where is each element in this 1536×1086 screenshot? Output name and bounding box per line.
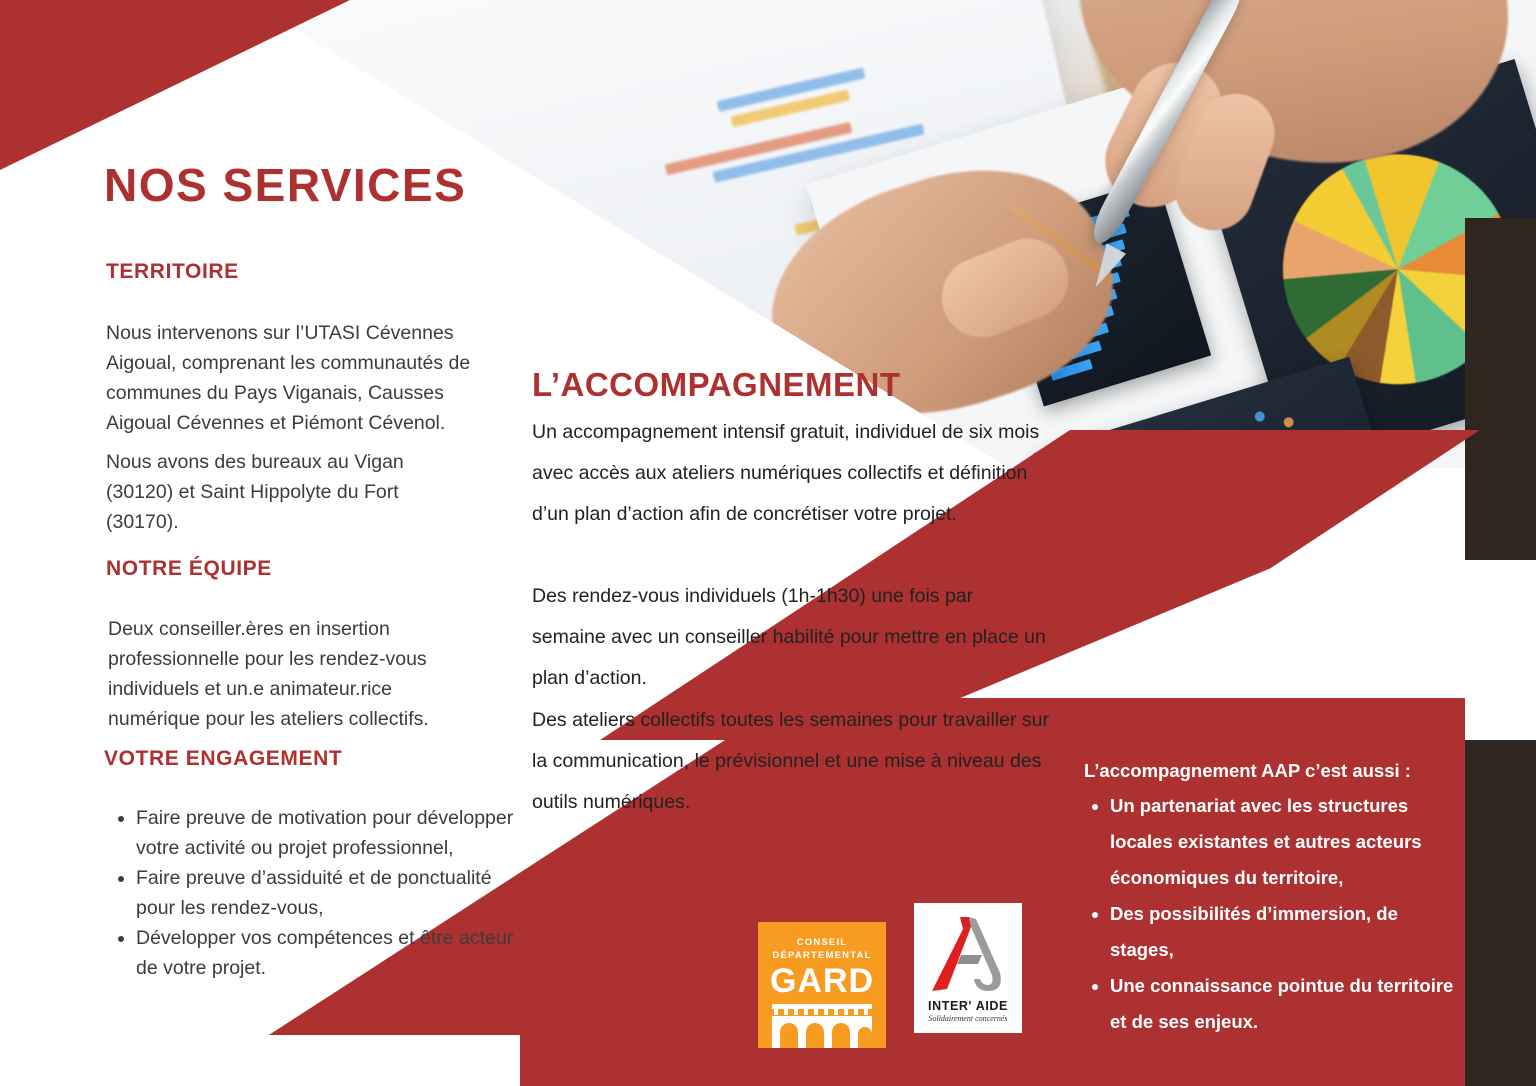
brochure-page: NOS SERVICES TERRITOIRE Nous intervenons… [0,0,1536,1086]
gard-line-1: CONSEIL [797,937,848,948]
accompagnement-paragraph-3: Des ateliers collectifs toutes les semai… [532,700,1052,823]
right-panel-text: L’accompagnement AAP c’est aussi : Un pa… [1084,756,1456,1040]
accompagnement-paragraph-2: Des rendez-vous individuels (1h-1h30) un… [532,576,1052,699]
list-item: Développer vos compétences et être acteu… [136,923,522,983]
territoire-paragraph-1: Nous intervenons sur l’UTASI Cévennes Ai… [106,318,496,438]
red-triangle-top-left [0,0,350,170]
page-title: NOS SERVICES [104,158,466,212]
logo-conseil-departemental-gard: CONSEIL DÉPARTEMENTAL GARD [758,922,886,1048]
right-panel-lead: L’accompagnement AAP c’est aussi : [1084,756,1456,786]
pont-du-gard-icon [772,1004,872,1048]
inter-aide-a-icon [914,911,1022,999]
list-item: Une connaissance pointue du territoire e… [1110,968,1456,1040]
territoire-paragraph-2: Nous avons des bureaux au Vigan (30120) … [106,447,456,537]
gard-line-2: DÉPARTEMENTAL [772,950,871,961]
section-heading-engagement: VOTRE ENGAGEMENT [104,747,342,771]
gard-logo-subtitle: CONSEIL DÉPARTEMENTAL [758,936,886,962]
section-heading-territoire: TERRITOIRE [106,260,239,284]
white-bottom-left-cut [0,1035,520,1086]
inter-aide-name: INTER' AIDE [914,999,1022,1013]
equipe-paragraph: Deux conseiller.ères en insertion profes… [108,614,486,734]
accompagnement-paragraph-1: Un accompagnement intensif gratuit, indi… [532,412,1052,535]
right-panel-bullet-list: Un partenariat avec les structures local… [1084,788,1456,1040]
list-item: Faire preuve de motivation pour développ… [136,803,522,863]
section-heading-equipe: NOTRE ÉQUIPE [106,557,272,581]
section-heading-accompagnement: L’ACCOMPAGNEMENT [532,366,901,404]
inter-aide-tagline: Solidairement concernés [914,1014,1022,1023]
list-item: Des possibilités d’immersion, de stages, [1110,896,1456,968]
logo-inter-aide: INTER' AIDE Solidairement concernés [914,903,1022,1033]
gard-wordmark: GARD [758,962,886,1001]
list-item: Un partenariat avec les structures local… [1110,788,1456,896]
list-item: Faire preuve d’assiduité et de ponctuali… [136,863,522,923]
engagement-bullet-list: Faire preuve de motivation pour développ… [110,803,522,983]
